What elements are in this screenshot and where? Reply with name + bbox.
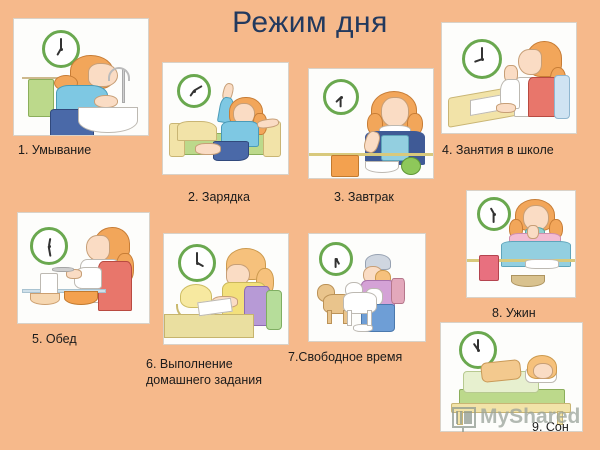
routine-label-6: 6. Выполнение домашнего задания — [146, 357, 262, 388]
clock-icon-5 — [30, 227, 68, 265]
routine-card-7[interactable] — [308, 233, 426, 342]
routine-card-2[interactable] — [162, 62, 289, 175]
clock-icon-4 — [462, 39, 502, 79]
clock-icon-6 — [178, 244, 216, 282]
clock-icon-7 — [319, 242, 353, 276]
routine-image-2 — [162, 62, 289, 175]
clock-icon-8 — [477, 197, 511, 231]
routine-image-3 — [308, 68, 434, 179]
routine-image-7 — [308, 233, 426, 342]
routine-label-8: 8. Ужин — [492, 306, 536, 322]
clock-icon-3 — [323, 79, 359, 115]
routine-image-1 — [13, 18, 149, 136]
routine-label-5: 5. Обед — [32, 332, 77, 348]
routine-card-8[interactable] — [466, 190, 576, 298]
routine-image-9 — [440, 322, 583, 432]
routine-label-4: 4. Занятия в школе — [442, 143, 554, 159]
routine-label-1: 1. Умывание — [18, 143, 91, 159]
routine-image-6 — [163, 233, 289, 345]
routine-label-7: 7.Свободное время — [288, 350, 402, 366]
routine-card-4[interactable] — [441, 22, 577, 134]
routine-label-2: 2. Зарядка — [188, 190, 250, 206]
routine-card-3[interactable] — [308, 68, 434, 179]
routine-card-6[interactable] — [163, 233, 289, 345]
routine-card-9[interactable] — [440, 322, 583, 432]
routine-image-5 — [17, 212, 150, 324]
page-title: Режим дня — [200, 6, 420, 40]
routine-image-4 — [441, 22, 577, 134]
routine-image-8 — [466, 190, 576, 298]
routine-card-5[interactable] — [17, 212, 150, 324]
clock-icon-2 — [177, 74, 211, 108]
routine-label-3: 3. Завтрак — [334, 190, 394, 206]
slide-canvas: Режим дня 1. Умывание — [0, 0, 600, 450]
routine-label-9: 9. Сон — [532, 420, 569, 436]
routine-card-1[interactable] — [13, 18, 149, 136]
